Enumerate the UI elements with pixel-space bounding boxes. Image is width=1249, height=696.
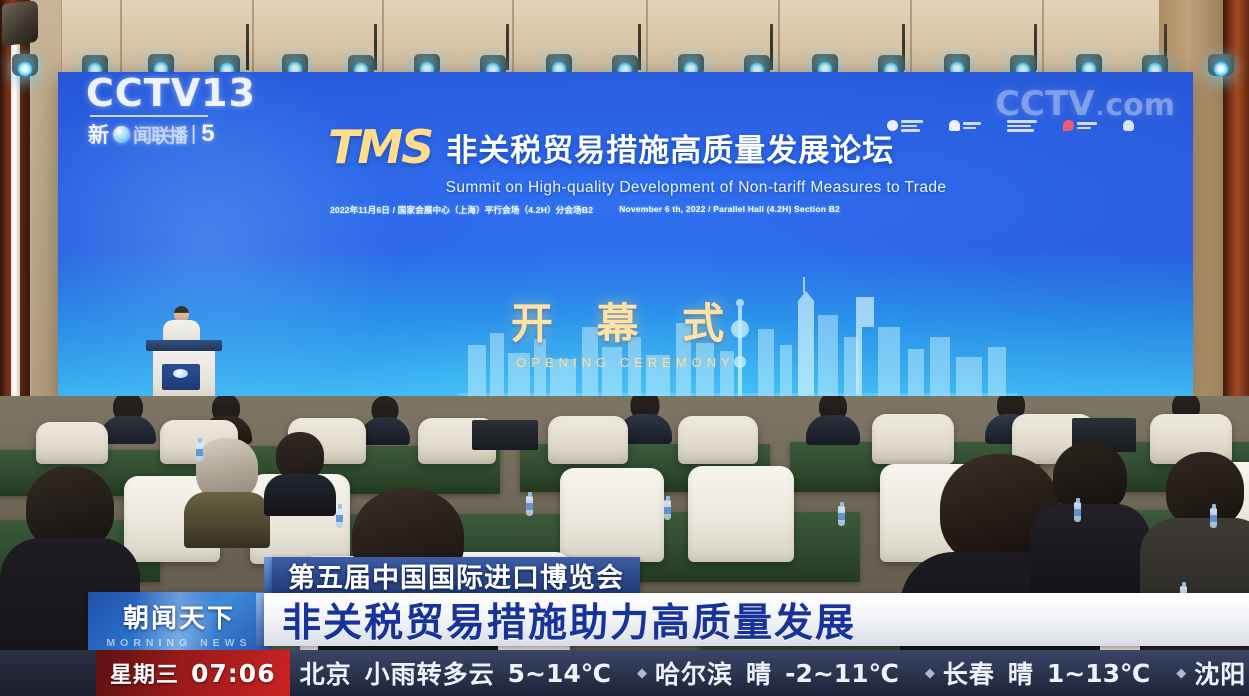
sponsor-logo-icon [1007, 120, 1037, 132]
stage-led-screen: CCTV13 新 闻联播 | 5 CCTV.com [58, 72, 1193, 402]
water-bottle [1074, 502, 1081, 522]
headline-text: 非关税贸易措施助力高质量发展 [282, 592, 856, 648]
program-name-zh: 朝闻天下 [88, 598, 270, 635]
audience-member [806, 396, 860, 440]
weather-temperature: 1~13℃ [1047, 659, 1150, 688]
chair [678, 416, 758, 464]
weather-city: 北京 [300, 655, 352, 691]
weather-city: 长春 [943, 655, 995, 691]
bottom-ticker: 星期三 07:06 北京 小雨转多云 5~14℃ ◆ 哈尔滨 晴 -2~11℃ … [0, 650, 1249, 696]
cctv-com-watermark: CCTV.com [995, 84, 1175, 124]
kicker-bar: 第五届中国国际进口博览会 [272, 557, 640, 594]
stage-light-icon [12, 54, 38, 76]
laptop [472, 420, 538, 450]
weather-ticker: 北京 小雨转多云 5~14℃ ◆ 哈尔滨 晴 -2~11℃ ◆ 长春 晴 1~1… [290, 650, 1249, 696]
watermark-network: CCTV [995, 84, 1094, 124]
weather-city: 哈尔滨 [655, 655, 733, 691]
audience-member [360, 396, 410, 442]
ceremony-title-en: OPENING CEREMONY [58, 355, 1193, 370]
weather-item: 长春 晴 1~13℃ [943, 655, 1168, 691]
water-bottle [664, 500, 671, 520]
weather-temperature: 5~14℃ [508, 659, 611, 688]
datetime-box: 星期三 07:06 [96, 650, 290, 696]
clock-label: 07:06 [191, 659, 276, 688]
stage-light-icon [1208, 54, 1234, 76]
broadcast-frame: CCTV13 新 闻联播 | 5 CCTV.com [0, 0, 1249, 696]
water-bottle [526, 496, 533, 516]
weather-separator-icon: ◆ [1168, 665, 1194, 681]
weather-separator-icon: ◆ [629, 665, 655, 681]
weather-item: 沈阳 [1194, 655, 1249, 691]
ceremony-title-zh: 开 幕 式 [58, 290, 1193, 351]
chair [548, 416, 628, 464]
program-logo: 朝闻天下 MORNING NEWS [88, 592, 270, 650]
water-bottle [838, 506, 845, 526]
kicker-text: 第五届中国国际进口博览会 [288, 556, 624, 595]
audience-member [100, 396, 156, 440]
banner-title-en: Summit on High-quality Development of No… [404, 179, 988, 197]
weather-item: 北京 小雨转多云 5~14℃ [300, 655, 629, 691]
banner-meta-zh: 2022年11月6日 / 国家会展中心（上海）平行会场（4.2H）分会场B2 [330, 204, 593, 216]
sponsor-logo-icon [1063, 120, 1097, 131]
water-bottle [1210, 508, 1217, 528]
tms-acronym-logo: TMS [328, 120, 432, 174]
chair [36, 422, 108, 464]
podium-emblem-icon [162, 364, 200, 390]
banner-meta-en: November 6 th, 2022 / Parallel Hall (4.2… [619, 204, 840, 216]
weekday-label: 星期三 [110, 657, 179, 689]
watermark-dot: . [1095, 84, 1106, 124]
banner-title-block: TMS 非关税贸易措施高质量发展论坛 Summit on High-qualit… [328, 120, 988, 216]
water-bottle [336, 508, 343, 528]
weather-condition: 晴 [1008, 655, 1034, 691]
weather-city: 沈阳 [1194, 655, 1246, 691]
headline-bar: 非关税贸易措施助力高质量发展 [264, 593, 1249, 646]
program-name-en: MORNING NEWS [88, 637, 270, 649]
opening-ceremony-block: 开 幕 式 OPENING CEREMONY [58, 290, 1193, 370]
lower-third-graphics: 朝闻天下 MORNING NEWS 第五届中国国际进口博览会 非关税贸易措施助力… [0, 540, 1249, 650]
weather-item: 哈尔滨 晴 -2~11℃ [655, 655, 917, 691]
weather-condition: 晴 [746, 655, 772, 691]
weather-separator-icon: ◆ [917, 665, 943, 681]
banner-title-zh: 非关税贸易措施高质量发展论坛 [446, 125, 894, 170]
watermark-com: com [1105, 88, 1175, 123]
ticker-left-pad [0, 650, 96, 696]
weather-temperature: -2~11℃ [785, 659, 899, 688]
weather-condition: 小雨转多云 [365, 655, 495, 691]
water-bottle [196, 442, 203, 462]
